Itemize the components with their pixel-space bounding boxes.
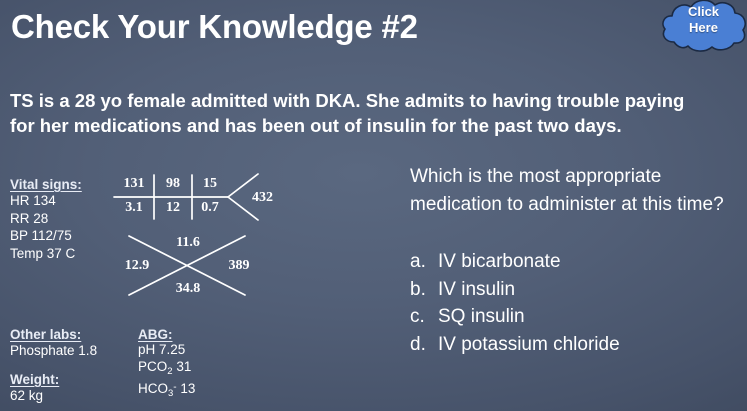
- weight-value: 62 kg: [10, 387, 59, 404]
- abg-pco2-label: PCO: [138, 359, 167, 374]
- option-b-letter: b.: [410, 276, 438, 304]
- other-labs-header: Other labs:: [10, 327, 97, 342]
- option-c-text: SQ insulin: [438, 303, 525, 331]
- vital-sign-rr: RR 28: [10, 210, 82, 228]
- abg-ph: pH 7.25: [138, 342, 195, 359]
- cloud-label-line1: Click: [660, 4, 747, 20]
- cloud-label-line2: Here: [660, 20, 747, 36]
- cbc-fishbone-diagram: 11.6 12.9 389 34.8: [112, 233, 282, 301]
- cbc-wbc: 12.9: [108, 258, 166, 274]
- answer-option-b[interactable]: b. IV insulin: [410, 276, 745, 304]
- bmp-bun: 15: [195, 176, 225, 192]
- other-lab-phosphate: Phosphate 1.8: [10, 342, 97, 359]
- question-text: Which is the most appropriate medication…: [410, 163, 740, 218]
- bmp-creatinine: 0.7: [195, 200, 225, 216]
- answer-option-c[interactable]: c. SQ insulin: [410, 303, 745, 331]
- cbc-hematocrit: 34.8: [162, 281, 214, 297]
- bmp-fishbone-diagram: 131 98 15 3.1 12 0.7 432: [112, 172, 292, 224]
- bmp-glucose: 432: [252, 190, 292, 206]
- vital-sign-temp: Temp 37 C: [10, 245, 82, 263]
- page-title: Check Your Knowledge #2: [11, 8, 418, 46]
- weight-header: Weight:: [10, 372, 59, 387]
- abg-hco3-value: 13: [177, 381, 196, 396]
- bmp-chloride: 98: [156, 176, 190, 192]
- option-c-letter: c.: [410, 303, 438, 331]
- option-a-text: IV bicarbonate: [438, 248, 561, 276]
- abg-pco2: PCO2 31: [138, 359, 195, 381]
- option-d-letter: d.: [410, 331, 438, 359]
- abg-block: ABG: pH 7.25 PCO2 31 HCO3- 13: [138, 327, 195, 403]
- answer-option-d[interactable]: d. IV potassium chloride: [410, 331, 745, 359]
- option-d-text: IV potassium chloride: [438, 331, 620, 359]
- vital-signs-block: Vital signs: HR 134 RR 28 BP 112/75 Temp…: [10, 177, 82, 262]
- option-a-letter: a.: [410, 248, 438, 276]
- vital-sign-bp: BP 112/75: [10, 227, 82, 245]
- option-b-text: IV insulin: [438, 276, 515, 304]
- other-labs-block: Other labs: Phosphate 1.8: [10, 327, 97, 359]
- bmp-sodium: 131: [116, 176, 152, 192]
- abg-hco3-label: HCO: [138, 381, 168, 396]
- answer-options-list: a. IV bicarbonate b. IV insulin c. SQ in…: [410, 248, 745, 358]
- cbc-hemoglobin: 11.6: [162, 235, 214, 251]
- bmp-potassium: 3.1: [116, 200, 152, 216]
- cloud-button-label: Click Here: [660, 4, 747, 36]
- vital-sign-hr: HR 134: [10, 192, 82, 210]
- slide-canvas: Check Your Knowledge #2 Click Here TS is…: [0, 0, 747, 411]
- abg-hco3: HCO3- 13: [138, 380, 195, 403]
- weight-block: Weight: 62 kg: [10, 372, 59, 404]
- abg-pco2-value: 31: [173, 359, 192, 374]
- click-here-cloud-button[interactable]: Click Here: [660, 0, 747, 54]
- patient-vignette: TS is a 28 yo female admitted with DKA. …: [10, 88, 710, 138]
- bmp-bicarbonate: 12: [156, 200, 190, 216]
- abg-header: ABG:: [138, 327, 195, 342]
- answer-option-a[interactable]: a. IV bicarbonate: [410, 248, 745, 276]
- cbc-platelets: 389: [212, 258, 266, 274]
- vital-signs-header: Vital signs:: [10, 177, 82, 192]
